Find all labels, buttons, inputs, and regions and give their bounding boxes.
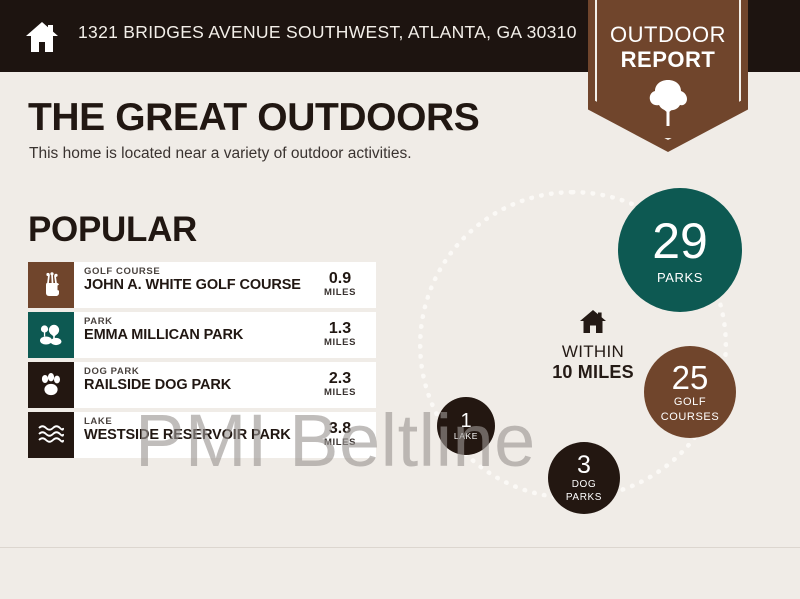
list-item[interactable]: LAKE WESTSIDE RESERVOIR PARK 3.8 MILES xyxy=(28,412,376,458)
footer-divider xyxy=(0,547,800,548)
place-icon-box xyxy=(28,262,74,308)
list-item[interactable]: GOLF COURSE JOHN A. WHITE GOLF COURSE 0.… xyxy=(28,262,376,308)
outdoor-report-infographic: 1321 BRIDGES AVENUE SOUTHWEST, ATLANTA, … xyxy=(0,0,800,599)
golf-bag-icon xyxy=(39,272,63,298)
within-label: WITHIN xyxy=(528,342,658,362)
place-distance-value: 0.9 xyxy=(304,270,376,287)
place-distance-unit: MILES xyxy=(304,337,376,348)
place-distance: 0.9 MILES xyxy=(304,262,376,308)
house-icon xyxy=(578,308,608,336)
stat-circle-parks[interactable]: 29 PARKS xyxy=(618,188,742,312)
place-distance-value: 3.8 xyxy=(304,420,376,437)
property-address: 1321 BRIDGES AVENUE SOUTHWEST, ATLANTA, … xyxy=(78,22,577,43)
house-icon xyxy=(22,17,62,57)
stat-label-line2: PARKS xyxy=(566,493,602,504)
place-name: WESTSIDE RESERVOIR PARK xyxy=(84,427,304,444)
place-distance-unit: MILES xyxy=(304,437,376,448)
place-category: PARK xyxy=(84,316,304,327)
badge-line-outdoor: OUTDOOR xyxy=(588,22,748,48)
place-text: LAKE WESTSIDE RESERVOIR PARK xyxy=(74,412,304,458)
diagram-center-label: WITHIN 10 MILES xyxy=(528,308,658,383)
place-icon-box xyxy=(28,312,74,358)
place-icon-box xyxy=(28,412,74,458)
stat-label-line1: GOLF xyxy=(674,397,706,409)
place-distance-value: 1.3 xyxy=(304,320,376,337)
popular-section-heading: POPULAR xyxy=(28,210,197,250)
place-distance: 1.3 MILES xyxy=(304,312,376,358)
popular-places-list: GOLF COURSE JOHN A. WHITE GOLF COURSE 0.… xyxy=(28,262,376,462)
place-distance-value: 2.3 xyxy=(304,370,376,387)
place-name: EMMA MILLICAN PARK xyxy=(84,327,304,344)
water-waves-icon xyxy=(37,423,65,447)
place-distance-unit: MILES xyxy=(304,387,376,398)
radius-label: 10 MILES xyxy=(528,362,658,383)
place-text: PARK EMMA MILLICAN PARK xyxy=(74,312,304,358)
page-title: THE GREAT OUTDOORS xyxy=(28,96,479,140)
place-category: LAKE xyxy=(84,416,304,427)
stat-value: 1 xyxy=(460,411,471,431)
badge-line-report: REPORT xyxy=(588,47,748,73)
stat-label-line1: LAKE xyxy=(454,432,478,441)
place-name: JOHN A. WHITE GOLF COURSE xyxy=(84,277,304,294)
stat-circle-golf-courses[interactable]: 25 GOLF COURSES xyxy=(644,346,736,438)
park-trees-icon xyxy=(38,323,64,347)
stat-label-line1: DOG xyxy=(572,480,597,491)
list-item[interactable]: PARK EMMA MILLICAN PARK 1.3 MILES xyxy=(28,312,376,358)
place-distance-unit: MILES xyxy=(304,287,376,298)
page-subtitle: This home is located near a variety of o… xyxy=(29,145,412,163)
place-text: DOG PARK RAILSIDE DOG PARK xyxy=(74,362,304,408)
paw-print-icon xyxy=(38,372,64,398)
stat-value: 3 xyxy=(577,453,591,478)
footer xyxy=(0,548,800,599)
nearby-amenities-diagram: WITHIN 10 MILES 29 PARKS 25 GOLF COURSES… xyxy=(400,170,800,530)
place-icon-box xyxy=(28,362,74,408)
place-distance: 2.3 MILES xyxy=(304,362,376,408)
place-name: RAILSIDE DOG PARK xyxy=(84,377,304,394)
place-category: DOG PARK xyxy=(84,366,304,377)
list-item[interactable]: DOG PARK RAILSIDE DOG PARK 2.3 MILES xyxy=(28,362,376,408)
stat-value: 29 xyxy=(652,216,708,266)
place-distance: 3.8 MILES xyxy=(304,412,376,458)
stat-label-line2: COURSES xyxy=(661,412,720,424)
stat-circle-dog-parks[interactable]: 3 DOG PARKS xyxy=(548,442,620,514)
tree-icon xyxy=(646,78,690,128)
place-category: GOLF COURSE xyxy=(84,266,304,277)
place-text: GOLF COURSE JOHN A. WHITE GOLF COURSE xyxy=(74,262,304,308)
stat-value: 25 xyxy=(672,361,709,394)
stat-label: PARKS xyxy=(657,271,703,285)
stat-circle-lakes[interactable]: 1 LAKE xyxy=(437,397,495,455)
